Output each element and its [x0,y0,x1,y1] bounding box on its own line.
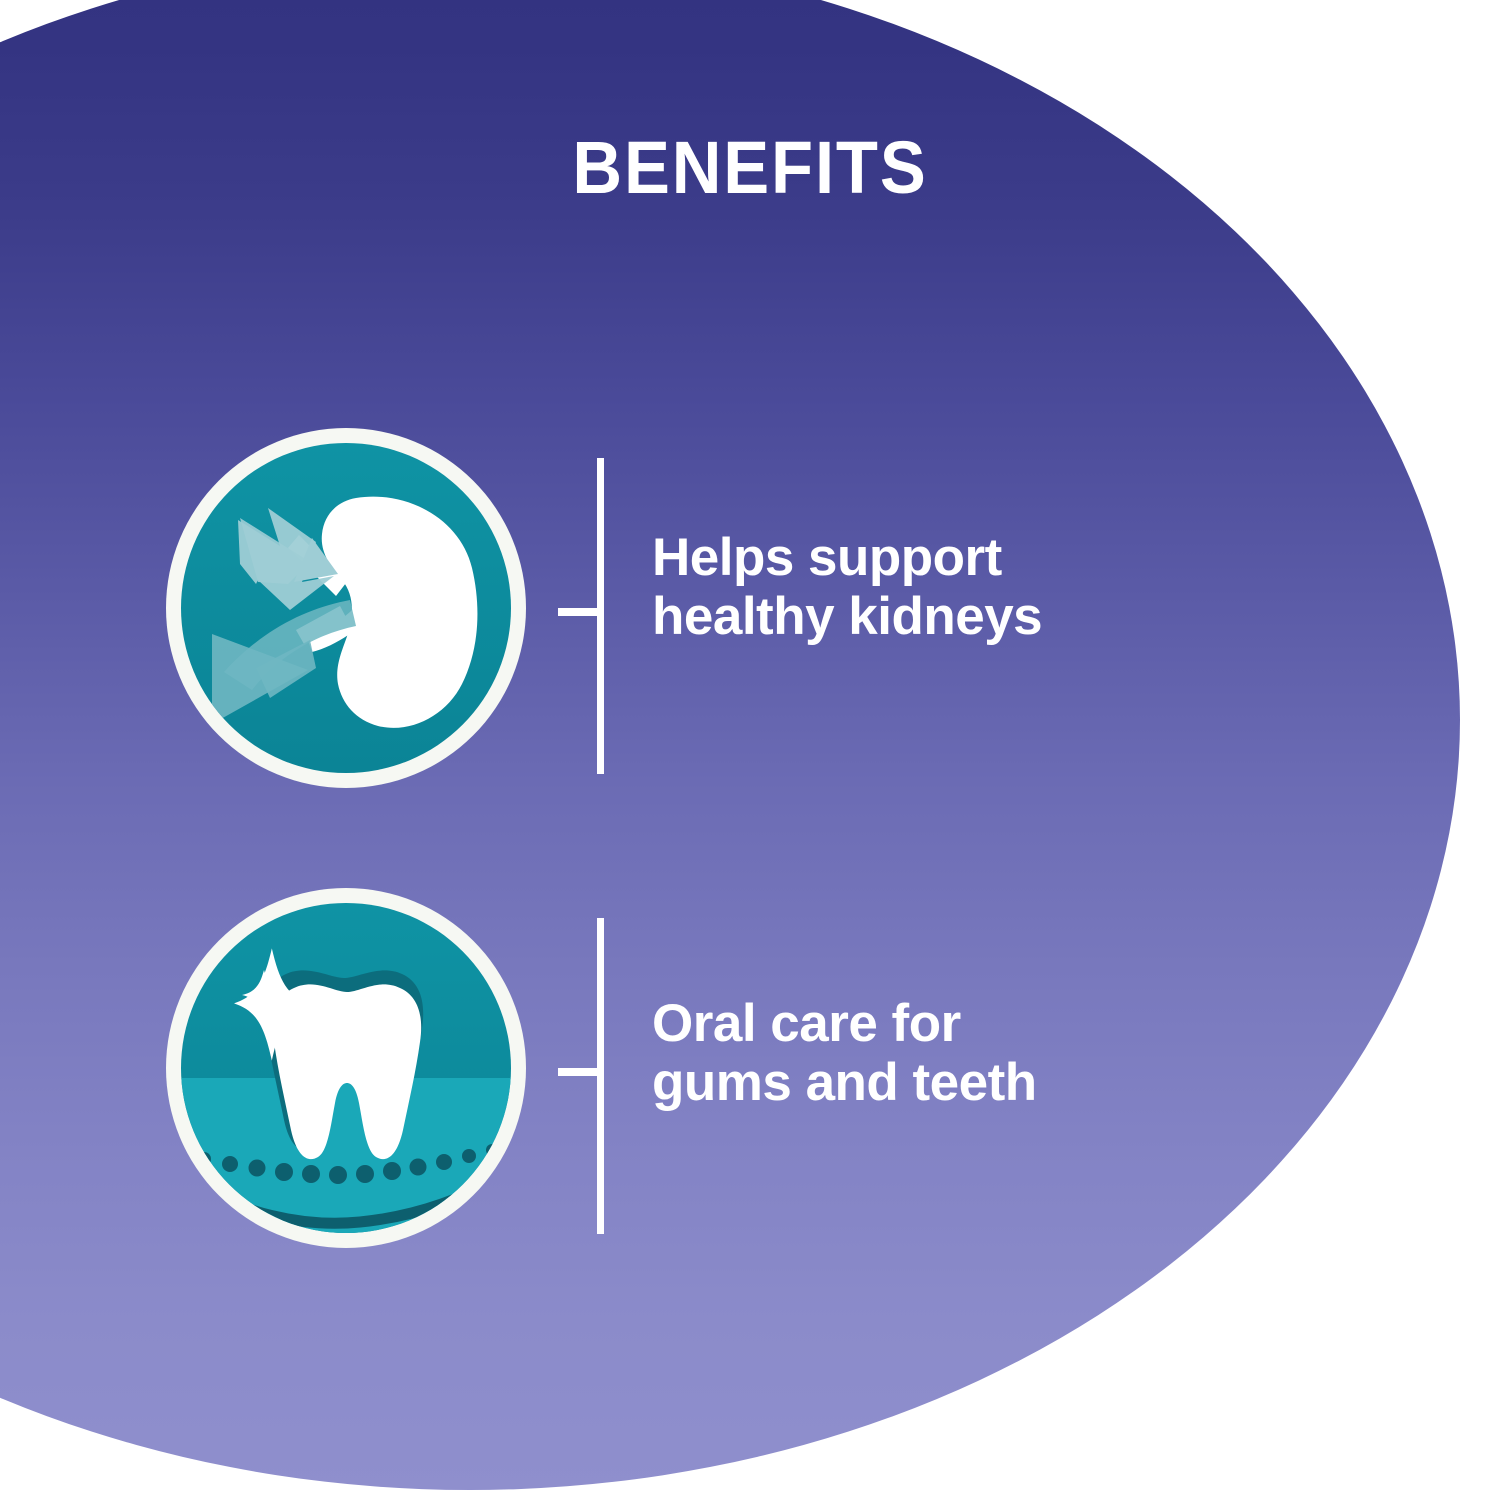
connector-tick [558,608,604,616]
benefit-label: Helps support healthy kidneys [652,528,1172,647]
benefit-icon-wrapper [160,882,532,1254]
benefit-icon-wrapper [160,422,532,794]
page-title: BENEFITS [53,131,1448,205]
benefit-row: Helps support healthy kidneys [0,422,1200,802]
benefit-label-line2: gums and teeth [652,1053,1172,1112]
benefit-label: Oral care for gums and teeth [652,994,1172,1113]
benefit-label-line1: Helps support [652,528,1172,587]
connector-vertical [597,918,604,1234]
connector-tick [558,1068,604,1076]
tooth-icon [160,882,532,1254]
benefit-label-line1: Oral care for [652,994,1172,1053]
benefit-row: Oral care for gums and teeth [0,882,1200,1262]
connector-line [558,422,604,794]
benefits-graphic: BENEFITS [0,0,1500,1500]
benefit-label-line2: healthy kidneys [652,587,1172,646]
kidney-icon [160,422,532,794]
connector-vertical [597,458,604,774]
connector-line [558,882,604,1254]
